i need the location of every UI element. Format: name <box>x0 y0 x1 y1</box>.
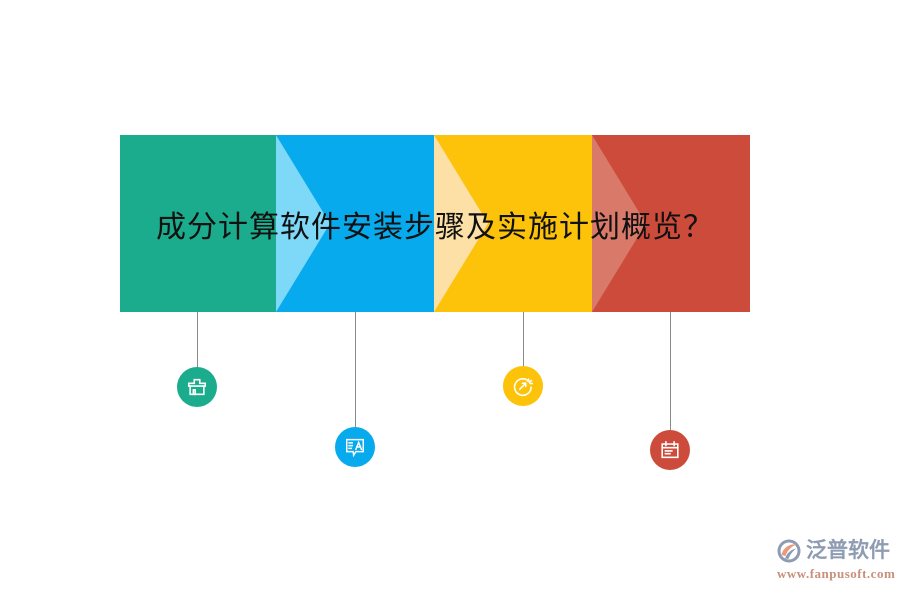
banner-segments <box>120 135 750 312</box>
connector-line-2 <box>355 312 356 427</box>
connector-line-3 <box>523 312 524 366</box>
connector-line-1 <box>197 312 198 368</box>
node-icon-calendar[interactable] <box>650 430 690 470</box>
brand-logo: 泛普软件 www.fanpusoft.com <box>776 538 892 590</box>
node-icon-translate[interactable] <box>335 427 375 467</box>
pie-chart-icon <box>512 375 534 397</box>
node-icon-store[interactable] <box>177 367 217 407</box>
calendar-icon <box>659 439 681 461</box>
brand-url: www.fanpusoft.com <box>777 566 895 582</box>
fanpu-logo-mark <box>776 538 802 564</box>
brand-logo-row: 泛普软件 <box>776 538 890 564</box>
connector-line-4 <box>670 312 671 430</box>
banner-segment-1[interactable] <box>120 135 276 312</box>
diagram-canvas: 成分计算软件安装步骤及实施计划概览？ <box>0 0 900 600</box>
translate-icon <box>344 436 366 458</box>
store-icon <box>186 376 208 398</box>
brand-name: 泛普软件 <box>806 538 890 564</box>
node-icon-pie-chart[interactable] <box>503 366 543 406</box>
banner: 成分计算软件安装步骤及实施计划概览？ <box>120 135 750 312</box>
